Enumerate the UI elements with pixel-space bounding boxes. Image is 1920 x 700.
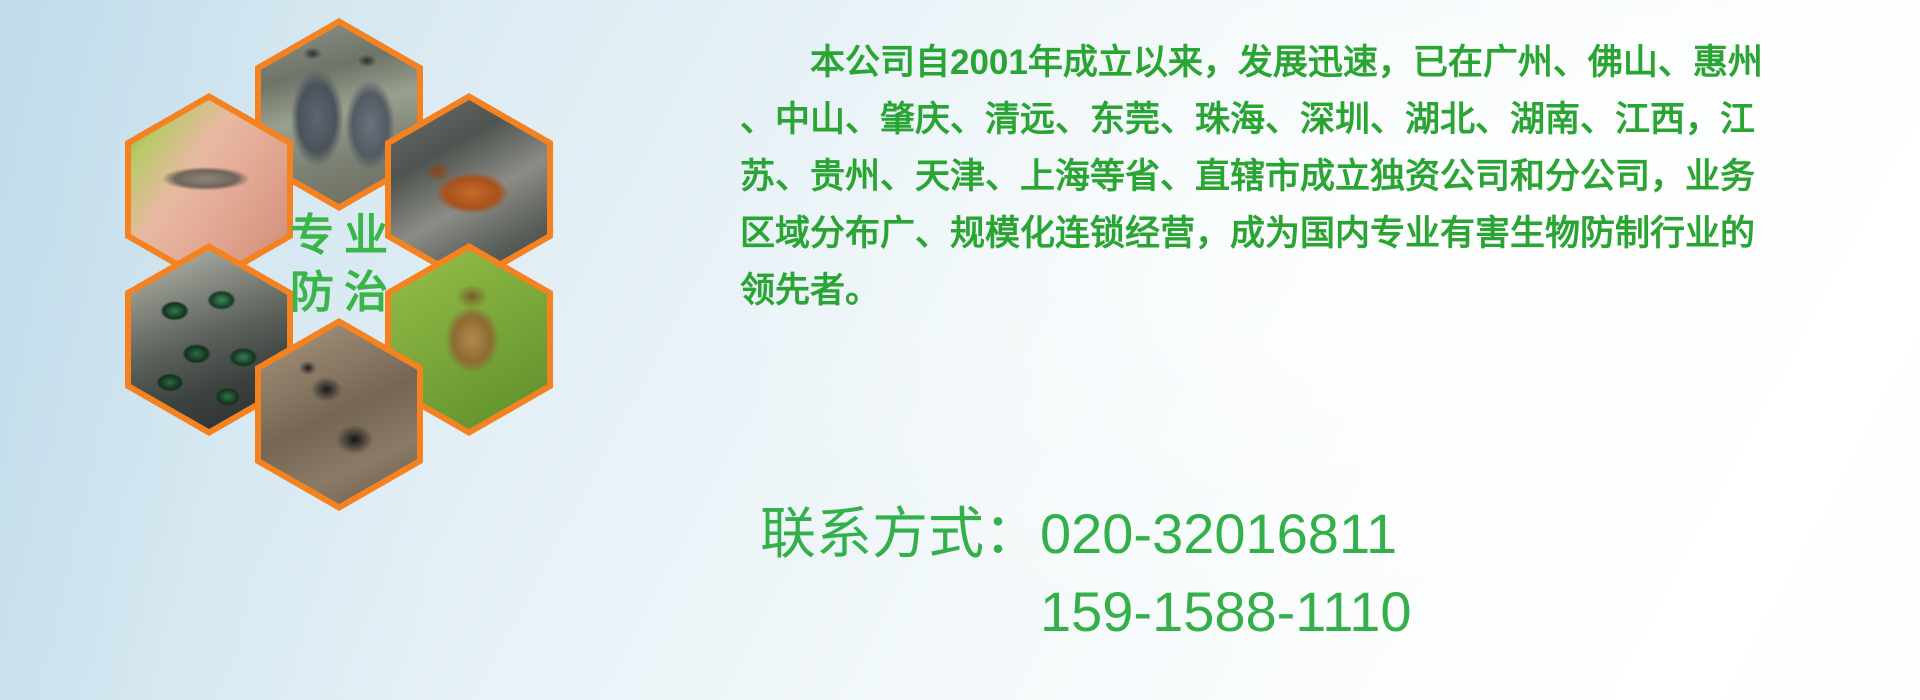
about-text-block: 本公司自2001年成立以来，发展迅速，已在广州、佛山、惠州 、中山、肇庆、清远、… xyxy=(740,34,1900,319)
about-line-5: 领先者。 xyxy=(740,262,1900,319)
about-line-1: 本公司自2001年成立以来，发展迅速，已在广州、佛山、惠州 xyxy=(740,34,1900,91)
contact-secondary-row: 159-1588-1110 xyxy=(760,573,1412,651)
contact-phone-2[interactable]: 159-1588-1110 xyxy=(1040,580,1412,643)
company-banner: 专业 防治 本公司自2001年成立以来，发展迅速，已在广州、佛山、惠州 、中山、… xyxy=(0,0,1920,700)
contact-phone-1[interactable]: 020-32016811 xyxy=(1040,502,1397,565)
brand-slogan: 专业 防治 xyxy=(255,168,423,361)
contact-block: 联系方式：020-32016811 159-1588-1110 xyxy=(760,495,1412,651)
about-line-2: 、中山、肇庆、清远、东莞、珠海、深圳、湖北、湖南、江西，江 xyxy=(740,91,1900,148)
contact-label: 联系方式： xyxy=(760,502,1040,565)
about-line-4: 区域分布广、规模化连锁经营，成为国内专业有害生物防制行业的 xyxy=(740,205,1900,262)
about-line-3: 苏、贵州、天津、上海等省、直辖市成立独资公司和分公司，业务 xyxy=(740,148,1900,205)
honeycomb-collage: 专业 防治 xyxy=(95,8,595,568)
brand-slogan-line-2: 防治 xyxy=(280,270,398,316)
contact-primary-row: 联系方式：020-32016811 xyxy=(760,495,1412,573)
brand-slogan-line-1: 专业 xyxy=(280,213,398,259)
